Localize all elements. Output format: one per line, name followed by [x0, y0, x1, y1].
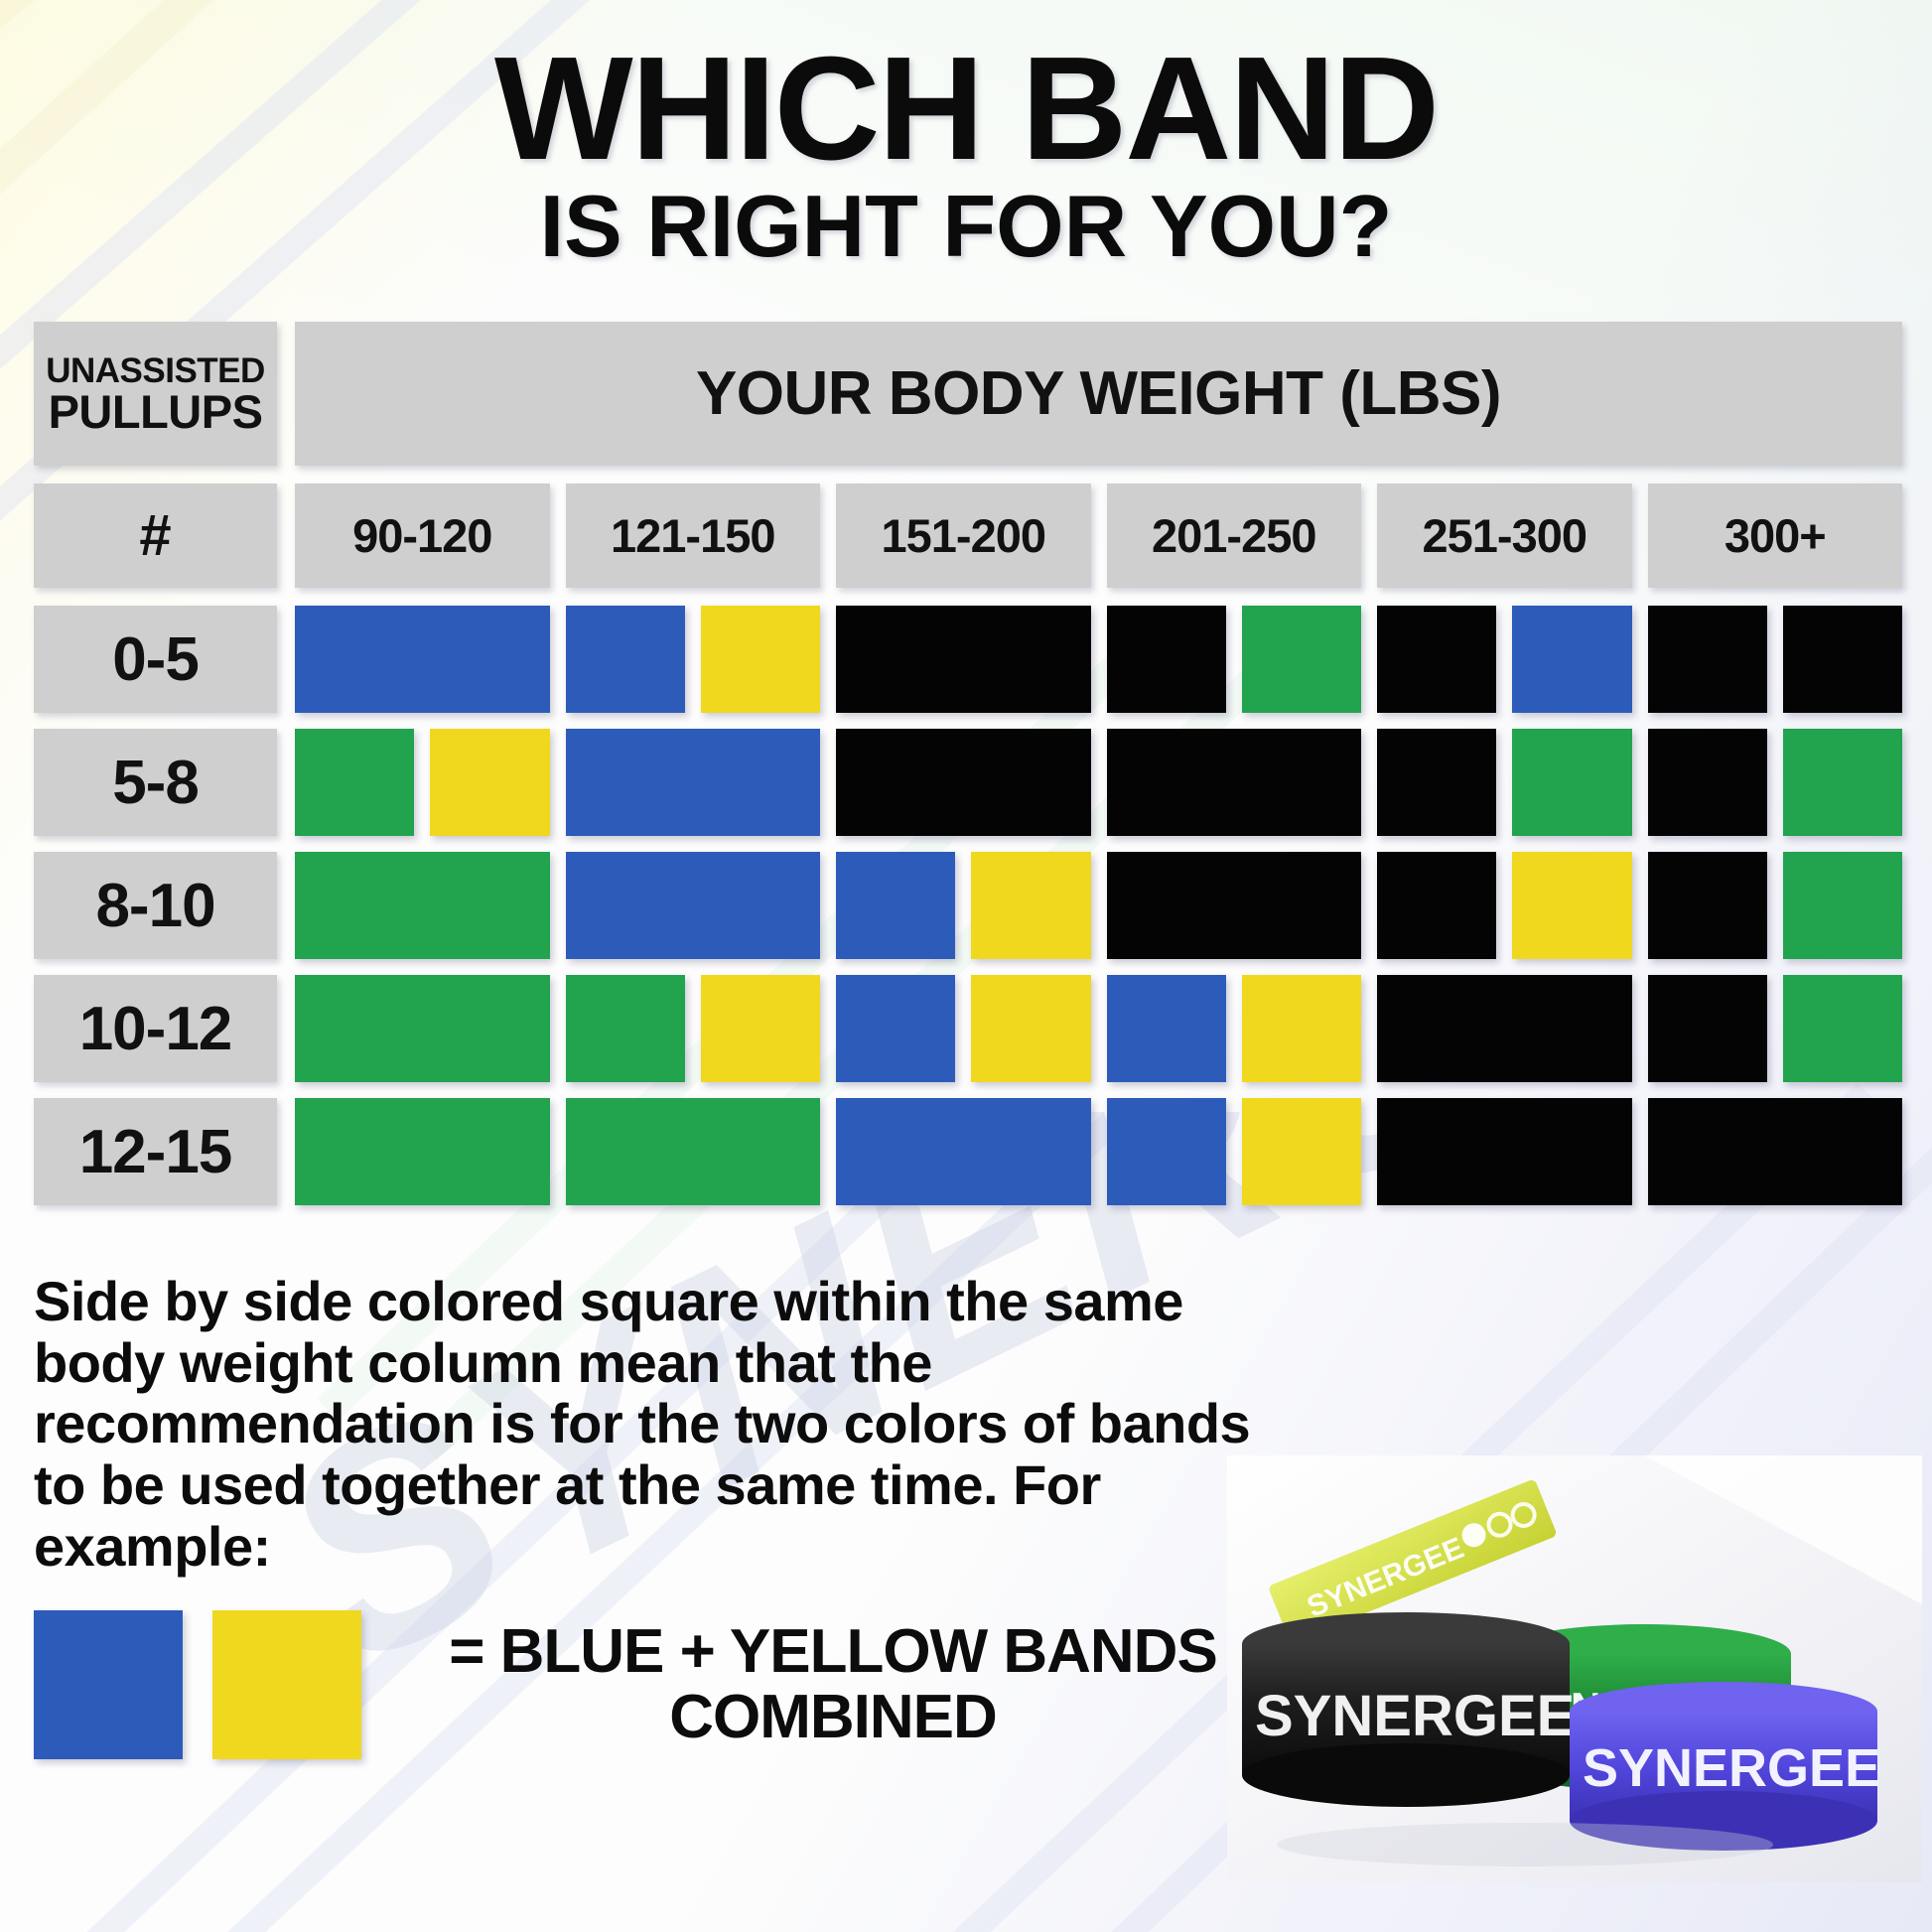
band-swatch-green	[295, 975, 550, 1082]
column-header-90-120: 90-120	[295, 483, 550, 588]
column-header-251-300: 251-300	[1377, 483, 1632, 588]
row-label-8-10: 8-10	[34, 852, 277, 959]
band-swatch-green	[1783, 975, 1902, 1082]
band-swatch-black	[1377, 852, 1496, 959]
band-swatch-black	[1377, 1098, 1632, 1205]
row-label-0-5: 0-5	[34, 606, 277, 713]
row-cells	[295, 1098, 1902, 1205]
cell-8-10-121-150	[566, 852, 821, 959]
cell-12-15-201-250	[1107, 1098, 1362, 1205]
column-header-201-250: 201-250	[1107, 483, 1362, 588]
cell-5-8-300+	[1648, 729, 1903, 836]
cell-5-8-90-120	[295, 729, 550, 836]
band-swatch-yellow	[701, 606, 820, 713]
cell-10-12-300+	[1648, 975, 1903, 1082]
band-swatch-blue	[836, 975, 955, 1082]
row-label-5-8: 5-8	[34, 729, 277, 836]
band-swatch-black	[836, 606, 1091, 713]
band-swatch-yellow	[971, 975, 1090, 1082]
cell-5-8-251-300	[1377, 729, 1632, 836]
cell-5-8-121-150	[566, 729, 821, 836]
row-label-10-12: 10-12	[34, 975, 277, 1082]
band-swatch-blue	[566, 729, 821, 836]
band-swatch-black	[1648, 975, 1767, 1082]
table-row: 8-10	[34, 852, 1902, 959]
band-swatch-green	[295, 729, 414, 836]
table-row: 12-15	[34, 1098, 1902, 1205]
row-cells	[295, 975, 1902, 1082]
band-swatch-green	[295, 1098, 550, 1205]
cell-8-10-151-200	[836, 852, 1091, 959]
band-swatch-green	[566, 1098, 821, 1205]
column-header-151-200: 151-200	[836, 483, 1091, 588]
cell-5-8-201-250	[1107, 729, 1362, 836]
band-swatch-black	[1648, 729, 1767, 836]
explainer-paragraph: Side by side colored square within the s…	[34, 1271, 1265, 1577]
row-label-12-15: 12-15	[34, 1098, 277, 1205]
cell-0-5-90-120	[295, 606, 550, 713]
band-swatch-blue	[1107, 1098, 1226, 1205]
cell-10-12-90-120	[295, 975, 550, 1082]
row-cells	[295, 852, 1902, 959]
cell-8-10-251-300	[1377, 852, 1632, 959]
band-swatch-black	[1648, 1098, 1903, 1205]
band-swatch-blue	[566, 852, 821, 959]
column-header-hash: #	[34, 483, 277, 588]
column-header-300-plus: 300+	[1648, 483, 1903, 588]
band-swatch-black	[1107, 606, 1226, 713]
cell-10-12-251-300	[1377, 975, 1632, 1082]
product-photo-resistance-bands: SYNERGEE SYNERGEE SYNERGEE SY	[1227, 1455, 1922, 1882]
cell-12-15-251-300	[1377, 1098, 1632, 1205]
band-swatch-yellow	[1512, 852, 1631, 959]
cell-8-10-90-120	[295, 852, 550, 959]
sub-title: IS RIGHT FOR YOU?	[0, 183, 1932, 270]
band-swatch-black	[1377, 729, 1496, 836]
legend-example: = BLUE + YELLOW BANDS COMBINED	[34, 1610, 1265, 1759]
band-swatch-yellow	[971, 852, 1090, 959]
svg-text:SYNERGEE: SYNERGEE	[1255, 1684, 1575, 1748]
cell-0-5-300+	[1648, 606, 1903, 713]
table-column-header-row: # 90-120 121-150 151-200 201-250 251-300…	[34, 483, 1902, 588]
band-swatch-green	[295, 852, 550, 959]
band-swatch-yellow	[430, 729, 549, 836]
header-body-weight: YOUR BODY WEIGHT (LBS)	[295, 322, 1902, 466]
cell-0-5-201-250	[1107, 606, 1362, 713]
band-swatch-black	[1377, 606, 1496, 713]
cell-12-15-90-120	[295, 1098, 550, 1205]
band-swatch-yellow	[1242, 975, 1361, 1082]
cell-5-8-151-200	[836, 729, 1091, 836]
header-unassisted-line1: UNASSISTED	[46, 353, 265, 388]
band-swatch-black	[1783, 606, 1902, 713]
band-swatch-yellow	[701, 975, 820, 1082]
band-swatch-black	[1107, 852, 1362, 959]
svg-text:SYNERGEE: SYNERGEE	[1583, 1738, 1880, 1798]
table-body: 0-55-88-1010-1212-15	[34, 606, 1902, 1205]
legend-label: = BLUE + YELLOW BANDS COMBINED	[401, 1619, 1265, 1749]
band-swatch-blue	[295, 606, 550, 713]
table-row: 5-8	[34, 729, 1902, 836]
band-swatch-blue	[1107, 975, 1226, 1082]
cell-12-15-151-200	[836, 1098, 1091, 1205]
cell-0-5-151-200	[836, 606, 1091, 713]
header-unassisted-pullups: UNASSISTED PULLUPS	[34, 322, 277, 466]
band-swatch-blue	[566, 606, 685, 713]
row-cells	[295, 606, 1902, 713]
band-swatch-black	[1648, 606, 1767, 713]
band-swatch-blue	[836, 1098, 1091, 1205]
band-black: SYNERGEE	[1242, 1612, 1575, 1807]
band-swatch-green	[1512, 729, 1631, 836]
cell-10-12-201-250	[1107, 975, 1362, 1082]
band-recommendation-table: UNASSISTED PULLUPS YOUR BODY WEIGHT (LBS…	[0, 322, 1932, 1205]
table-row: 10-12	[34, 975, 1902, 1082]
header-unassisted-line2: PULLUPS	[49, 388, 263, 435]
cell-0-5-121-150	[566, 606, 821, 713]
cell-12-15-121-150	[566, 1098, 821, 1205]
cell-10-12-151-200	[836, 975, 1091, 1082]
band-swatch-blue	[1512, 606, 1631, 713]
cell-12-15-300+	[1648, 1098, 1903, 1205]
band-swatch-black	[1648, 852, 1767, 959]
band-swatch-green	[1242, 606, 1361, 713]
main-title: WHICH BAND	[0, 42, 1932, 177]
table-row: 0-5	[34, 606, 1902, 713]
row-cells	[295, 729, 1902, 836]
cell-8-10-300+	[1648, 852, 1903, 959]
column-header-121-150: 121-150	[566, 483, 821, 588]
cell-10-12-121-150	[566, 975, 821, 1082]
page-title: WHICH BAND IS RIGHT FOR YOU?	[0, 0, 1932, 270]
band-swatch-yellow	[1242, 1098, 1361, 1205]
band-swatch-black	[1377, 975, 1632, 1082]
legend-swatch-yellow	[212, 1610, 361, 1759]
band-swatch-green	[1783, 852, 1902, 959]
band-swatch-black	[836, 729, 1091, 836]
cell-8-10-201-250	[1107, 852, 1362, 959]
band-swatch-green	[1783, 729, 1902, 836]
band-swatch-green	[566, 975, 685, 1082]
table-header-row: UNASSISTED PULLUPS YOUR BODY WEIGHT (LBS…	[34, 322, 1902, 466]
band-swatch-black	[1107, 729, 1362, 836]
cell-0-5-251-300	[1377, 606, 1632, 713]
legend-swatch-blue	[34, 1610, 183, 1759]
band-swatch-blue	[836, 852, 955, 959]
explainer-block: Side by side colored square within the s…	[34, 1271, 1265, 1759]
